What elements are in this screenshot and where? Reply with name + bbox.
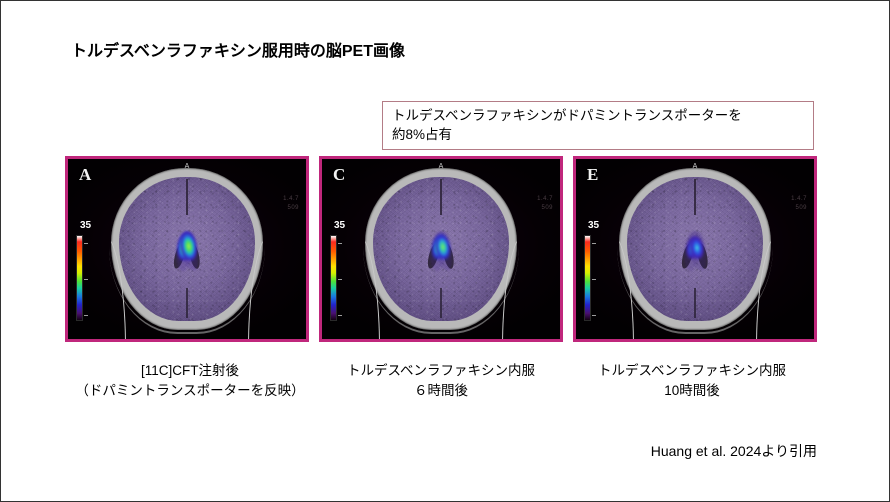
- caption-line-1: [11C]CFT注射後: [65, 361, 315, 381]
- brain-parenchyma: [373, 177, 509, 321]
- annotation-line-2: 約8%占有: [392, 125, 805, 144]
- color-scale-tick: [592, 315, 596, 316]
- pet-panel-c[interactable]: C A 1.4.7 509 35: [319, 156, 563, 342]
- color-scale-tick: [84, 279, 88, 280]
- color-scale-c: 35: [328, 233, 350, 325]
- scanner-text-line-2: 509: [537, 204, 553, 213]
- scanner-text-line-1: 1.4.7: [791, 195, 807, 204]
- scanner-text-line-2: 509: [791, 204, 807, 213]
- color-scale-tick: [338, 243, 342, 244]
- color-scale-max-label: 35: [80, 220, 91, 231]
- color-scale-max-label: 35: [334, 220, 345, 231]
- color-scale-gradient-icon: [330, 235, 337, 321]
- page-title: トルデスベンラファキシン服用時の脳PET画像: [71, 37, 405, 61]
- posterior-fissure: [440, 288, 442, 318]
- panel-letter-e: E: [587, 165, 598, 185]
- pet-image-c: C A 1.4.7 509 35: [322, 159, 560, 339]
- caption-panel-e: トルデスベンラファキシン内服 10時間後: [567, 361, 817, 401]
- brain-slice-e: [619, 168, 771, 330]
- interhemispheric-fissure: [440, 179, 442, 215]
- anterior-marker-icon: A: [439, 163, 444, 170]
- anterior-marker-icon: A: [693, 163, 698, 170]
- pet-image-e: E A 1.4.7 509 35: [576, 159, 814, 339]
- scanner-overlay-text: 1.4.7 509: [537, 195, 553, 213]
- anterior-marker-icon: A: [185, 163, 190, 170]
- posterior-fissure: [186, 288, 188, 318]
- caption-line-2: ６時間後: [316, 381, 566, 401]
- caption-line-2: 10時間後: [567, 381, 817, 401]
- interhemispheric-fissure: [694, 179, 696, 215]
- pet-image-row: A A 1.4.7 509 35: [65, 156, 817, 342]
- pet-image-a: A A 1.4.7 509 35: [68, 159, 306, 339]
- color-scale-tick: [592, 279, 596, 280]
- color-scale-gradient-icon: [76, 235, 83, 321]
- color-scale-tick: [84, 243, 88, 244]
- caption-panel-a: [11C]CFT注射後 （ドパミントランスポーターを反映）: [65, 361, 315, 401]
- caption-line-2: （ドパミントランスポーターを反映）: [65, 381, 315, 401]
- scanner-text-line-2: 509: [283, 204, 299, 213]
- color-scale-tick: [592, 243, 596, 244]
- color-scale-gradient-icon: [584, 235, 591, 321]
- scanner-overlay-text: 1.4.7 509: [283, 195, 299, 213]
- annotation-line-1: トルデスベンラファキシンがドパミントランスポーターを: [392, 106, 805, 125]
- caption-line-1: トルデスベンラファキシン内服: [567, 361, 817, 381]
- color-scale-tick: [338, 279, 342, 280]
- brain-slice-a: [111, 168, 263, 330]
- scanner-overlay-text: 1.4.7 509: [791, 195, 807, 213]
- brain-parenchyma: [627, 177, 763, 321]
- scanner-text-line-1: 1.4.7: [537, 195, 553, 204]
- caption-panel-c: トルデスベンラファキシン内服 ６時間後: [316, 361, 566, 401]
- caption-row: [11C]CFT注射後 （ドパミントランスポーターを反映） トルデスベンラファキ…: [65, 361, 817, 401]
- color-scale-a: 35: [74, 233, 96, 325]
- posterior-fissure: [694, 288, 696, 318]
- annotation-callout: トルデスベンラファキシンがドパミントランスポーターを 約8%占有: [382, 101, 814, 150]
- brain-slice-c: [365, 168, 517, 330]
- color-scale-tick: [338, 315, 342, 316]
- citation-text: Huang et al. 2024より引用: [651, 441, 817, 461]
- scanner-text-line-1: 1.4.7: [283, 195, 299, 204]
- color-scale-tick: [84, 315, 88, 316]
- caption-line-1: トルデスベンラファキシン内服: [316, 361, 566, 381]
- panel-letter-c: C: [333, 165, 345, 185]
- interhemispheric-fissure: [186, 179, 188, 215]
- panel-letter-a: A: [79, 165, 91, 185]
- slide-canvas: トルデスベンラファキシン服用時の脳PET画像 トルデスベンラファキシンがドパミン…: [0, 0, 890, 502]
- pet-panel-a[interactable]: A A 1.4.7 509 35: [65, 156, 309, 342]
- color-scale-max-label: 35: [588, 220, 599, 231]
- brain-parenchyma: [119, 177, 255, 321]
- color-scale-e: 35: [582, 233, 604, 325]
- pet-panel-e[interactable]: E A 1.4.7 509 35: [573, 156, 817, 342]
